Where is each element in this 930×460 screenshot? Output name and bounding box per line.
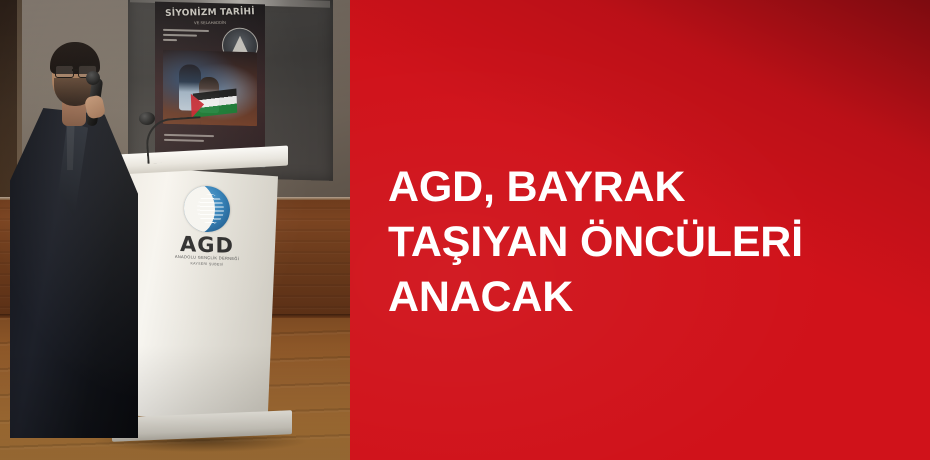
slide-subtitle: VE SELAHADDİN bbox=[159, 19, 261, 25]
slide-bullet-lines bbox=[163, 29, 215, 45]
agd-logo: AGD ANADOLU GENÇLİK DERNEĞİ KAYSERİ ŞUBE… bbox=[168, 185, 246, 269]
gooseneck-microphone-head bbox=[139, 112, 155, 125]
headline-line-1: AGD, BAYRAK bbox=[388, 160, 908, 215]
news-image-card: SİYONİZM TARİHİ VE SELAHADDİN MİLLİ GÖRÜ… bbox=[0, 0, 930, 460]
agd-logo-wordmark: AGD bbox=[168, 234, 246, 257]
eyeglasses-bridge bbox=[72, 69, 79, 71]
palestinian-flag-icon bbox=[193, 89, 237, 118]
slide-title: SİYONİZM TARİHİ bbox=[159, 7, 261, 19]
event-photograph: SİYONİZM TARİHİ VE SELAHADDİN MİLLİ GÖRÜ… bbox=[0, 0, 350, 460]
headline-line-3: ANACAK bbox=[388, 270, 908, 325]
slide-imagery-children-with-flag bbox=[163, 50, 257, 126]
headline-block: AGD, BAYRAK TAŞIYAN ÖNCÜLERİ ANACAK bbox=[388, 160, 908, 325]
headline-line-2: TAŞIYAN ÖNCÜLERİ bbox=[388, 215, 908, 270]
agd-globe-crescent-icon bbox=[184, 185, 230, 233]
eyeglasses-left-lens bbox=[55, 65, 74, 78]
red-headline-panel: AGD, BAYRAK TAŞIYAN ÖNCÜLERİ ANACAK bbox=[350, 0, 930, 460]
